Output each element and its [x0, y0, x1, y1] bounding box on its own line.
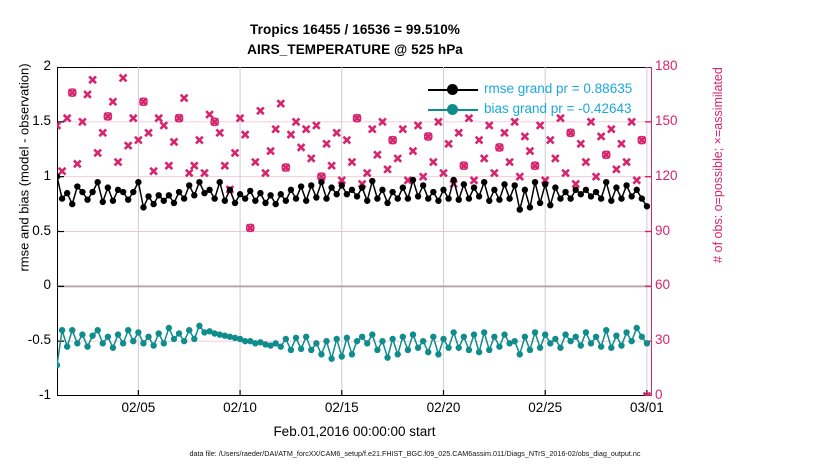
obs-assimilated-marker	[99, 129, 106, 136]
series-point-marker	[176, 330, 182, 336]
obs-assimilated-marker	[74, 160, 81, 167]
series-point-marker	[415, 193, 421, 199]
series-point-marker	[105, 184, 111, 190]
series-point-marker	[613, 184, 619, 190]
obs-assimilated-marker	[252, 159, 259, 166]
series-point-marker	[384, 200, 390, 206]
series-point-marker	[354, 193, 360, 199]
series-point-marker	[517, 206, 523, 212]
series-point-marker	[476, 349, 482, 355]
series-point-marker	[288, 347, 294, 353]
obs-assimilated-marker	[267, 148, 274, 155]
series-point-marker	[537, 200, 543, 206]
obs-assimilated-marker	[160, 122, 167, 129]
series-point-marker	[298, 183, 304, 189]
series-point-marker	[573, 334, 579, 340]
obs-assimilated-marker	[221, 162, 228, 169]
series-point-marker	[171, 336, 177, 342]
obs-assimilated-marker	[537, 122, 544, 129]
obs-assimilated-marker	[57, 122, 60, 129]
obs-assimilated-marker	[216, 129, 223, 136]
series-point-marker	[166, 325, 172, 331]
series-point-marker	[644, 203, 650, 209]
series-point-marker	[450, 177, 456, 183]
series-point-marker	[196, 323, 202, 329]
series-point-marker	[628, 193, 634, 199]
series-point-marker	[476, 193, 482, 199]
y-tick-label-right: 30	[655, 332, 699, 347]
series-point-marker	[583, 187, 589, 193]
series-point-marker	[171, 200, 177, 206]
series-point-marker	[588, 193, 594, 199]
series-point-marker	[395, 195, 401, 201]
obs-assimilated-marker	[328, 162, 335, 169]
series-point-marker	[415, 345, 421, 351]
series-point-marker	[59, 327, 65, 333]
series-point-marker	[176, 189, 182, 195]
series-point-marker	[140, 204, 146, 210]
series-point-marker	[425, 195, 431, 201]
series-point-marker	[211, 195, 217, 201]
series-point-marker	[334, 336, 340, 342]
series-point-marker	[420, 338, 426, 344]
series-point-marker	[364, 340, 370, 346]
series-point-marker	[161, 340, 167, 346]
x-tick-label: 03/01	[612, 400, 682, 415]
series-point-marker	[339, 353, 345, 359]
obs-assimilated-marker	[455, 129, 462, 136]
x-axis-label: Feb.01,2016 00:00:00 start	[57, 424, 652, 439]
series-point-marker	[328, 356, 334, 362]
series-point-marker	[578, 191, 584, 197]
series-point-marker	[374, 195, 380, 201]
obs-assimilated-marker	[384, 166, 391, 173]
series-point-marker	[583, 329, 589, 335]
y-axis-left-label: rmse and bias (model - observation)	[17, 3, 32, 333]
series-point-marker	[339, 182, 345, 188]
series-point-marker	[323, 338, 329, 344]
series-point-marker	[379, 187, 385, 193]
x-tick-label: 02/10	[205, 400, 275, 415]
series-point-marker	[328, 184, 334, 190]
series-point-marker	[206, 187, 212, 193]
obs-assimilated-marker	[94, 150, 101, 157]
obs-assimilated-marker	[242, 131, 249, 138]
obs-assimilated-marker	[272, 126, 279, 133]
obs-assimilated-marker	[613, 166, 620, 173]
series-point-marker	[308, 347, 314, 353]
series-point-marker	[334, 191, 340, 197]
series-point-marker	[552, 336, 558, 342]
obs-assimilated-marker	[201, 170, 208, 177]
series-point-marker	[567, 195, 573, 201]
series-point-marker	[552, 184, 558, 190]
series-point-marker	[349, 351, 355, 357]
series-point-marker	[120, 340, 126, 346]
obs-assimilated-marker	[115, 159, 122, 166]
obs-assimilated-marker	[277, 100, 284, 107]
series-point-marker	[400, 184, 406, 190]
obs-assimilated-marker	[618, 140, 625, 147]
series-point-marker	[191, 192, 197, 198]
series-point-marker	[598, 195, 604, 201]
series-point-marker	[161, 198, 167, 204]
series-point-marker	[395, 351, 401, 357]
series-point-marker	[608, 198, 614, 204]
series-point-marker	[532, 179, 538, 185]
series-point-marker	[435, 198, 441, 204]
series-point-marker	[359, 184, 365, 190]
series-point-marker	[59, 195, 65, 201]
obs-assimilated-marker	[369, 126, 376, 133]
obs-assimilated-marker	[145, 129, 152, 136]
obs-assimilated-marker	[364, 170, 371, 177]
series-point-marker	[542, 181, 548, 187]
series-point-marker	[196, 179, 202, 185]
obs-assimilated-marker	[257, 107, 264, 114]
obs-assimilated-marker	[232, 150, 239, 157]
series-point-marker	[456, 345, 462, 351]
series-point-marker	[272, 201, 278, 207]
series-point-marker	[369, 331, 375, 337]
series-point-marker	[94, 327, 100, 333]
series-point-marker	[344, 191, 350, 197]
obs-assimilated-marker	[430, 159, 437, 166]
series-point-marker	[527, 204, 533, 210]
obs-assimilated-marker	[110, 98, 117, 105]
series-point-marker	[405, 347, 411, 353]
obs-assimilated-marker	[155, 115, 162, 122]
series-point-marker	[445, 195, 451, 201]
obs-assimilated-marker	[333, 129, 340, 136]
series-point-marker	[618, 342, 624, 348]
series-point-marker	[227, 187, 233, 193]
obs-assimilated-marker	[552, 155, 559, 162]
y-tick-label-right: 120	[655, 168, 699, 183]
series-point-marker	[562, 331, 568, 337]
series-point-marker	[267, 192, 273, 198]
series-point-marker	[466, 195, 472, 201]
series-point-marker	[115, 331, 121, 337]
series-point-marker	[628, 338, 634, 344]
series-point-marker	[573, 187, 579, 193]
y-tick-label-right: 150	[655, 113, 699, 128]
series-point-marker	[156, 192, 162, 198]
obs-assimilated-marker	[181, 95, 188, 102]
series-point-marker	[74, 340, 80, 346]
series-point-marker	[420, 182, 426, 188]
obs-assimilated-marker	[288, 131, 295, 138]
series-point-marker	[79, 189, 85, 195]
obs-assimilated-marker	[150, 168, 157, 175]
obs-assimilated-marker	[313, 122, 320, 129]
obs-assimilated-marker	[374, 151, 381, 158]
series-point-marker	[166, 192, 172, 198]
series-point-marker	[318, 351, 324, 357]
obs-assimilated-marker	[623, 159, 630, 166]
series-point-marker	[84, 196, 90, 202]
series-point-marker	[181, 338, 187, 344]
obs-assimilated-marker	[323, 140, 330, 147]
obs-assimilated-marker	[196, 137, 203, 144]
legend-label: rmse grand pr = 0.88635	[484, 81, 632, 96]
series-point-marker	[298, 346, 304, 352]
series-point-marker	[252, 198, 258, 204]
series-point-marker	[278, 191, 284, 197]
series-point-marker	[486, 347, 492, 353]
series-point-marker	[105, 334, 111, 340]
obs-assimilated-marker	[394, 155, 401, 162]
series-point-marker	[496, 196, 502, 202]
series-point-marker	[135, 329, 141, 335]
obs-assimilated-marker	[445, 140, 452, 147]
series-point-marker	[613, 332, 619, 338]
obs-assimilated-marker	[399, 126, 406, 133]
series-point-marker	[491, 187, 497, 193]
obs-assimilated-marker	[481, 155, 488, 162]
series-point-marker	[64, 343, 70, 349]
series-point-marker	[288, 187, 294, 193]
series-point-marker	[247, 188, 253, 194]
obs-assimilated-marker	[298, 144, 305, 151]
series-point-marker	[542, 331, 548, 337]
series-point-marker	[237, 191, 243, 197]
obs-assimilated-marker	[171, 139, 178, 146]
series-point-marker	[634, 325, 640, 331]
series-point-marker	[644, 340, 650, 346]
series-point-marker	[481, 329, 487, 335]
x-tick-label: 02/05	[103, 400, 173, 415]
series-point-marker	[623, 329, 629, 335]
series-point-marker	[593, 334, 599, 340]
series-point-marker	[344, 335, 350, 341]
series-point-marker	[389, 189, 395, 195]
series-point-marker	[450, 329, 456, 335]
series-point-marker	[313, 194, 319, 200]
series-point-marker	[547, 340, 553, 346]
y-axis-right: 1801501209060300	[655, 67, 701, 396]
series-point-marker	[410, 331, 416, 337]
page-title-line1: Tropics 16455 / 16536 = 99.510%	[0, 22, 710, 37]
obs-assimilated-marker	[547, 137, 554, 144]
series-point-marker	[562, 189, 568, 195]
series-point-marker	[283, 336, 289, 342]
series-point-marker	[547, 202, 553, 208]
obs-assimilated-marker	[577, 140, 584, 147]
series-point-marker	[608, 345, 614, 351]
series-point-marker	[440, 336, 446, 342]
series-point-marker	[186, 182, 192, 188]
series-point-marker	[217, 179, 223, 185]
y-axis-right-label: # of obs: o=possible; ×=assimilated	[711, 0, 725, 330]
obs-assimilated-marker	[191, 162, 198, 169]
series-point-marker	[461, 181, 467, 187]
series-point-marker	[94, 179, 100, 185]
series-point-marker	[222, 198, 228, 204]
series-point-marker	[389, 336, 395, 342]
obs-assimilated-marker	[59, 168, 66, 175]
series-point-marker	[639, 334, 645, 340]
series-point-marker	[135, 179, 141, 185]
series-point-marker	[293, 195, 299, 201]
series-point-marker	[69, 201, 75, 207]
x-tick-label: 02/20	[408, 400, 478, 415]
series-point-marker	[130, 189, 136, 195]
chart-canvas	[57, 67, 652, 396]
series-line	[57, 177, 647, 210]
obs-assimilated-marker	[582, 159, 589, 166]
series-point-marker	[278, 343, 284, 349]
series-point-marker	[57, 362, 60, 368]
chart-page: Tropics 16455 / 16536 = 99.510% AIRS_TEM…	[0, 0, 830, 470]
series-point-marker	[242, 195, 248, 201]
series-point-marker	[506, 195, 512, 201]
obs-assimilated-marker	[308, 155, 315, 162]
series-point-marker	[578, 342, 584, 348]
obs-assimilated-marker	[598, 133, 605, 140]
legend-circle-marker-icon	[447, 104, 458, 115]
obs-assimilated-marker	[120, 75, 127, 82]
series-point-marker	[74, 183, 80, 189]
series-point-marker	[557, 345, 563, 351]
obs-assimilated-marker	[186, 170, 193, 177]
obs-assimilated-marker	[84, 91, 91, 98]
series-point-marker	[501, 181, 507, 187]
obs-assimilated-marker	[506, 159, 513, 166]
series-point-marker	[308, 182, 314, 188]
obs-assimilated-marker	[206, 111, 213, 118]
series-point-marker	[593, 189, 599, 195]
series-point-marker	[456, 196, 462, 202]
series-point-marker	[537, 345, 543, 351]
series-point-marker	[110, 345, 116, 351]
series-point-marker	[481, 179, 487, 185]
obs-assimilated-marker	[521, 133, 528, 140]
series-point-marker	[369, 178, 375, 184]
series-point-marker	[145, 334, 151, 340]
series-point-marker	[89, 332, 95, 338]
series-point-marker	[430, 189, 436, 195]
obs-assimilated-marker	[633, 177, 640, 184]
series-point-marker	[257, 190, 263, 196]
series-point-marker	[445, 345, 451, 351]
obs-assimilated-marker	[491, 170, 498, 177]
obs-assimilated-marker	[349, 159, 356, 166]
series-point-marker	[374, 347, 380, 353]
series-point-marker	[522, 187, 528, 193]
series-point-marker	[486, 198, 492, 204]
obs-assimilated-marker	[608, 126, 615, 133]
obs-assimilated-marker	[64, 115, 71, 122]
obs-assimilated-marker	[262, 170, 269, 177]
series-point-marker	[517, 351, 523, 357]
series-point-marker	[318, 179, 324, 185]
obs-assimilated-marker	[562, 170, 569, 177]
series-point-marker	[145, 193, 151, 199]
obs-assimilated-marker	[89, 76, 96, 83]
y-tick-label-right: 180	[655, 58, 699, 73]
series-point-marker	[84, 343, 90, 349]
obs-assimilated-marker	[572, 181, 579, 188]
y-tick-label-right: 90	[655, 223, 699, 238]
obs-assimilated-marker	[527, 148, 534, 155]
series-point-marker	[532, 329, 538, 335]
series-point-marker	[125, 327, 131, 333]
obs-assimilated-marker	[130, 115, 137, 122]
series-point-marker	[384, 354, 390, 360]
series-point-marker	[64, 190, 70, 196]
obs-assimilated-marker	[466, 115, 473, 122]
series-point-marker	[303, 198, 309, 204]
obs-assimilated-marker	[486, 122, 493, 129]
series-point-marker	[603, 327, 609, 333]
legend-circle-marker-icon	[447, 84, 458, 95]
series-point-marker	[283, 198, 289, 204]
series-point-marker	[181, 195, 187, 201]
series-point-marker	[379, 338, 385, 344]
obs-assimilated-marker	[471, 177, 478, 184]
series-point-marker	[471, 331, 477, 337]
series-point-marker	[140, 340, 146, 346]
series-point-marker	[69, 327, 75, 333]
series-point-marker	[639, 195, 645, 201]
series-point-marker	[323, 195, 329, 201]
obs-assimilated-marker	[303, 126, 310, 133]
obs-assimilated-marker	[410, 148, 417, 155]
series-point-marker	[435, 351, 441, 357]
x-tick-label: 02/25	[510, 400, 580, 415]
series-point-marker	[100, 199, 106, 205]
series-point-marker	[130, 338, 136, 344]
series-point-marker	[400, 334, 406, 340]
series-point-marker	[150, 342, 156, 348]
legend-label: bias grand pr = -0.42643	[484, 101, 631, 116]
series-point-marker	[120, 189, 126, 195]
series-point-marker	[567, 338, 573, 344]
x-axis-ticks: 02/0502/1002/1502/2002/2503/01	[57, 400, 652, 420]
series-point-marker	[313, 340, 319, 346]
series-point-marker	[364, 198, 370, 204]
series-point-marker	[125, 196, 131, 202]
series-point-marker	[186, 327, 192, 333]
series-point-marker	[588, 340, 594, 346]
obs-assimilated-marker	[125, 142, 132, 149]
series-point-marker	[527, 347, 533, 353]
series-point-marker	[156, 330, 162, 336]
series-point-marker	[354, 338, 360, 344]
series-point-marker	[359, 334, 365, 340]
y-tick-label-left: -0.5	[5, 332, 51, 347]
obs-assimilated-marker	[501, 129, 508, 136]
x-tick-label: 02/15	[307, 400, 377, 415]
series-point-marker	[150, 201, 156, 207]
series-point-marker	[293, 335, 299, 341]
series-point-marker	[262, 200, 268, 206]
y-tick-label-right: 60	[655, 277, 699, 292]
series-point-marker	[349, 187, 355, 193]
series-point-marker	[191, 336, 197, 342]
series-point-marker	[100, 340, 106, 346]
series-point-marker	[471, 184, 477, 190]
series-point-marker	[110, 198, 116, 204]
series-point-marker	[522, 334, 528, 340]
page-title-line2: AIRS_TEMPERATURE @ 525 hPa	[0, 42, 710, 57]
series-point-marker	[410, 177, 416, 183]
series-point-marker	[501, 331, 507, 337]
series-point-marker	[557, 195, 563, 201]
series-point-marker	[491, 334, 497, 340]
y-tick-label-left: -1	[5, 387, 51, 402]
